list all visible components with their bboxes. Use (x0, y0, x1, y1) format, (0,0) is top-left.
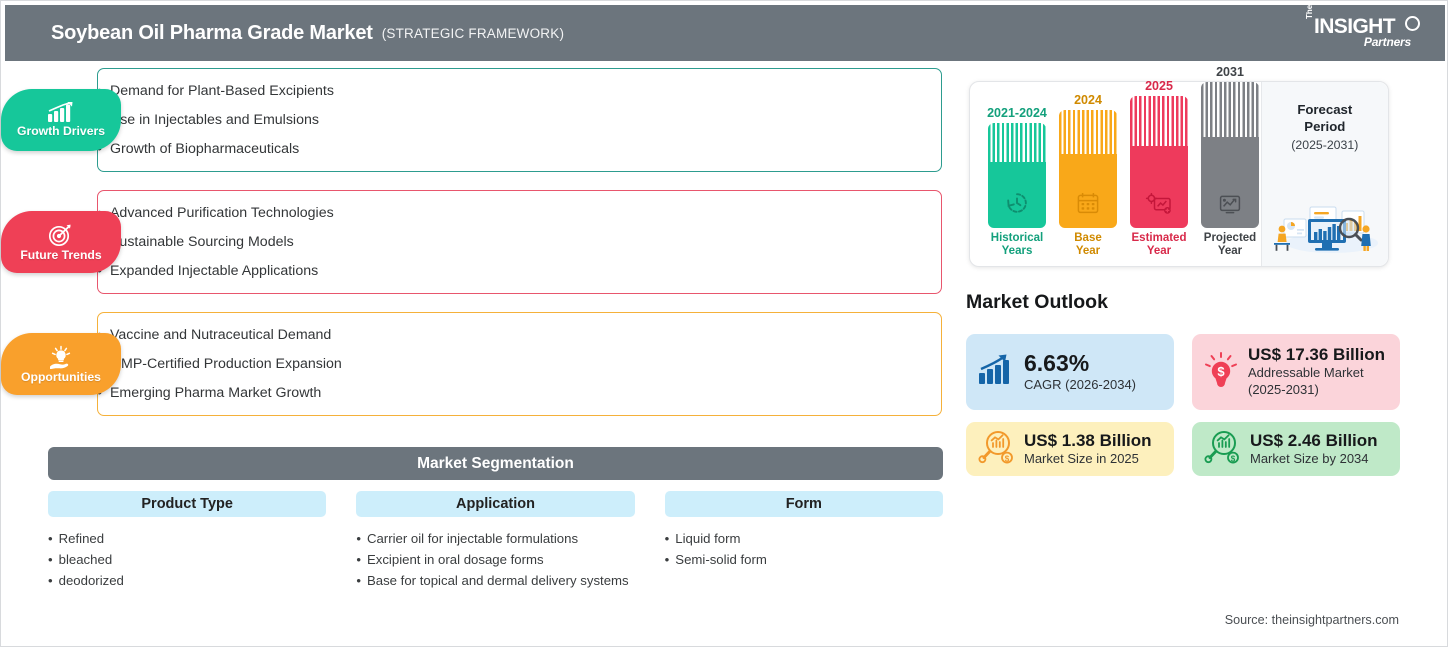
timeline-year: 2031 (1199, 65, 1261, 79)
outlook-card-value: US$ 1.38 Billion (1024, 431, 1152, 451)
source-attribution: Source: theinsightpartners.com (1225, 613, 1399, 627)
timeline-bar-stripe (1201, 82, 1259, 137)
timeline-label: Base Year (1057, 232, 1119, 258)
data-analysis-illustration (1270, 193, 1382, 260)
timeline-label: Historical Years (986, 232, 1048, 258)
outlook-card-value: US$ 2.46 Billion (1250, 431, 1378, 451)
list-item: Base for topical and dermal delivery sys… (356, 570, 634, 591)
list-item: bleached (48, 549, 326, 570)
timeline-item-historical: 2021-2024 Historical (986, 106, 1048, 258)
timeline-bar (988, 123, 1046, 228)
strategy-bullet-list: Vaccine and Nutraceutical Demand GMP-Cer… (97, 307, 342, 421)
timeline-label: Projected Year (1199, 232, 1261, 258)
segmentation-column-form: Form Liquid form Semi-solid form (665, 491, 943, 591)
svg-text:$: $ (1231, 454, 1236, 463)
magnifier-chart-dollar-icon: $ (978, 429, 1014, 470)
timeline-bars: 2021-2024 Historical (970, 82, 1261, 266)
timeline-item-estimated: 2025 (1128, 79, 1190, 258)
timeline-item-base: 2024 (1057, 93, 1119, 258)
list-item: deodorized (48, 570, 326, 591)
list-item: Use in Injectables and Emulsions (97, 112, 334, 128)
outlook-card-text: US$ 17.36 Billion Addressable Market (20… (1248, 345, 1388, 398)
forecast-title-line2: Period (1262, 118, 1388, 135)
strategy-row-opportunities: Vaccine and Nutraceutical Demand GMP-Cer… (1, 307, 951, 421)
list-item: Demand for Plant-Based Excipients (97, 83, 334, 99)
timeline-bar-stripe (1059, 110, 1117, 155)
forecast-title-line1: Forecast (1262, 101, 1388, 118)
logo-partners-text: Partners (1364, 35, 1411, 49)
timeline-bar-stripe (1130, 96, 1188, 146)
badge-label: Opportunities (21, 370, 101, 384)
outlook-card-value: US$ 17.36 Billion (1248, 345, 1388, 365)
list-item: Growth of Biopharmaceuticals (97, 141, 334, 157)
timeline-year: 2021-2024 (986, 106, 1048, 120)
badge-future-trends[interactable]: Future Trends (1, 211, 121, 273)
svg-text:$: $ (1217, 364, 1225, 379)
timeline-bar (1201, 82, 1259, 228)
timeline-bar-stripe (988, 123, 1046, 163)
list-item: Liquid form (665, 528, 943, 549)
forecast-screen-icon (1217, 192, 1243, 221)
timeline-item-projected: 2031 (1199, 65, 1261, 258)
market-segmentation-section: Market Segmentation Product Type Refined… (48, 447, 943, 591)
infographic-page: Soybean Oil Pharma Grade Market (STRATEG… (0, 0, 1448, 647)
outlook-card-text: 6.63% CAGR (2026-2034) (1024, 350, 1136, 394)
bar-chart-growth-icon (47, 102, 75, 123)
svg-text:$: $ (1005, 454, 1010, 463)
strategy-bullet-list: Demand for Plant-Based Excipients Use in… (97, 63, 334, 177)
segmentation-item-list: Refined bleached deodorized (48, 528, 326, 591)
timeline-label: Estimated Year (1128, 232, 1190, 258)
list-item: GMP-Certified Production Expansion (97, 356, 342, 372)
market-outlook-cards: 6.63% CAGR (2026-2034) $ US$ (966, 334, 1400, 488)
outlook-card-text: US$ 1.38 Billion Market Size in 2025 (1024, 431, 1152, 468)
outlook-card-sub: Market Size by 2034 (1250, 451, 1378, 468)
card-row-top: 6.63% CAGR (2026-2034) $ US$ (966, 334, 1400, 410)
segmentation-columns: Product Type Refined bleached deodorized… (48, 491, 943, 591)
timeline-bar-solid (1130, 146, 1188, 228)
list-item: Refined (48, 528, 326, 549)
segmentation-column-product-type: Product Type Refined bleached deodorized (48, 491, 326, 591)
outlook-card-cagr: 6.63% CAGR (2026-2034) (966, 334, 1174, 410)
timeline-bar-solid (988, 162, 1046, 227)
outlook-card-market-size-2025: $ US$ 1.38 Billion Market Size in 2025 (966, 422, 1174, 476)
outlook-card-sub: CAGR (2026-2034) (1024, 377, 1136, 394)
badge-opportunities[interactable]: Opportunities (1, 333, 121, 395)
segmentation-column-header: Product Type (48, 491, 326, 517)
lightbulb-in-hand-icon (46, 345, 76, 369)
insight-partners-logo: The INSIGHT Partners (1305, 14, 1421, 54)
list-item: Semi-solid form (665, 549, 943, 570)
logo-circle-icon (1405, 16, 1420, 31)
strategy-row-future-trends: Advanced Purification Technologies Susta… (1, 185, 951, 299)
market-timeline-card: 2021-2024 Historical (969, 81, 1389, 267)
page-title: Soybean Oil Pharma Grade Market (51, 22, 373, 45)
calendar-icon (1075, 190, 1101, 221)
timeline-bar-solid (1201, 137, 1259, 228)
forecast-period-range: (2025-2031) (1262, 138, 1388, 152)
card-row-bottom: $ US$ 1.38 Billion Market Size in 2025 (966, 422, 1400, 476)
strategy-section: Demand for Plant-Based Excipients Use in… (1, 63, 951, 429)
outlook-card-sub: Market Size in 2025 (1024, 451, 1152, 468)
strategy-row-growth-drivers: Demand for Plant-Based Excipients Use in… (1, 63, 951, 177)
timeline-bar (1130, 96, 1188, 228)
outlook-card-market-size-2034: $ US$ 2.46 Billion Market Size by 2034 (1192, 422, 1400, 476)
segmentation-column-header: Form (665, 491, 943, 517)
outlook-card-sub: Addressable Market (2025-2031) (1248, 365, 1388, 398)
outlook-card-value: 6.63% (1024, 350, 1136, 377)
header-bar: Soybean Oil Pharma Grade Market (STRATEG… (5, 5, 1445, 61)
list-item: Vaccine and Nutraceutical Demand (97, 327, 342, 343)
outlook-card-addressable-market: $ US$ 17.36 Billion Addressable Market (… (1192, 334, 1400, 410)
timeline-year: 2024 (1057, 93, 1119, 107)
list-item: Expanded Injectable Applications (97, 263, 334, 279)
strategy-bullet-list: Advanced Purification Technologies Susta… (97, 185, 334, 299)
clock-history-icon (1004, 190, 1030, 221)
target-dart-icon (48, 223, 74, 247)
list-item: Emerging Pharma Market Growth (97, 385, 342, 401)
segmentation-column-header: Application (356, 491, 634, 517)
badge-label: Future Trends (20, 248, 101, 262)
segmentation-item-list: Liquid form Semi-solid form (665, 528, 943, 570)
segmentation-title: Market Segmentation (48, 447, 943, 480)
analytics-gear-icon (1145, 192, 1173, 221)
forecast-period-panel: Forecast Period (2025-2031) (1261, 82, 1388, 266)
list-item: Sustainable Sourcing Models (97, 234, 334, 250)
badge-growth-drivers[interactable]: Growth Drivers (1, 89, 121, 151)
timeline-bar-solid (1059, 154, 1117, 227)
list-item: Advanced Purification Technologies (97, 205, 334, 221)
timeline-bar (1059, 110, 1117, 228)
lightbulb-dollar-icon: $ (1204, 352, 1238, 393)
logo-the-text: The (1305, 5, 1314, 19)
page-subtitle: (STRATEGIC FRAMEWORK) (382, 26, 564, 41)
market-outlook-title: Market Outlook (966, 291, 1108, 314)
segmentation-item-list: Carrier oil for injectable formulations … (356, 528, 634, 591)
outlook-card-text: US$ 2.46 Billion Market Size by 2034 (1250, 431, 1378, 468)
list-item: Excipient in oral dosage forms (356, 549, 634, 570)
list-item: Carrier oil for injectable formulations (356, 528, 634, 549)
badge-label: Growth Drivers (17, 124, 105, 138)
magnifier-chart-dollar-icon: $ (1204, 429, 1240, 470)
timeline-year: 2025 (1128, 79, 1190, 93)
segmentation-column-application: Application Carrier oil for injectable f… (356, 491, 634, 591)
bar-chart-arrow-icon (978, 354, 1014, 391)
